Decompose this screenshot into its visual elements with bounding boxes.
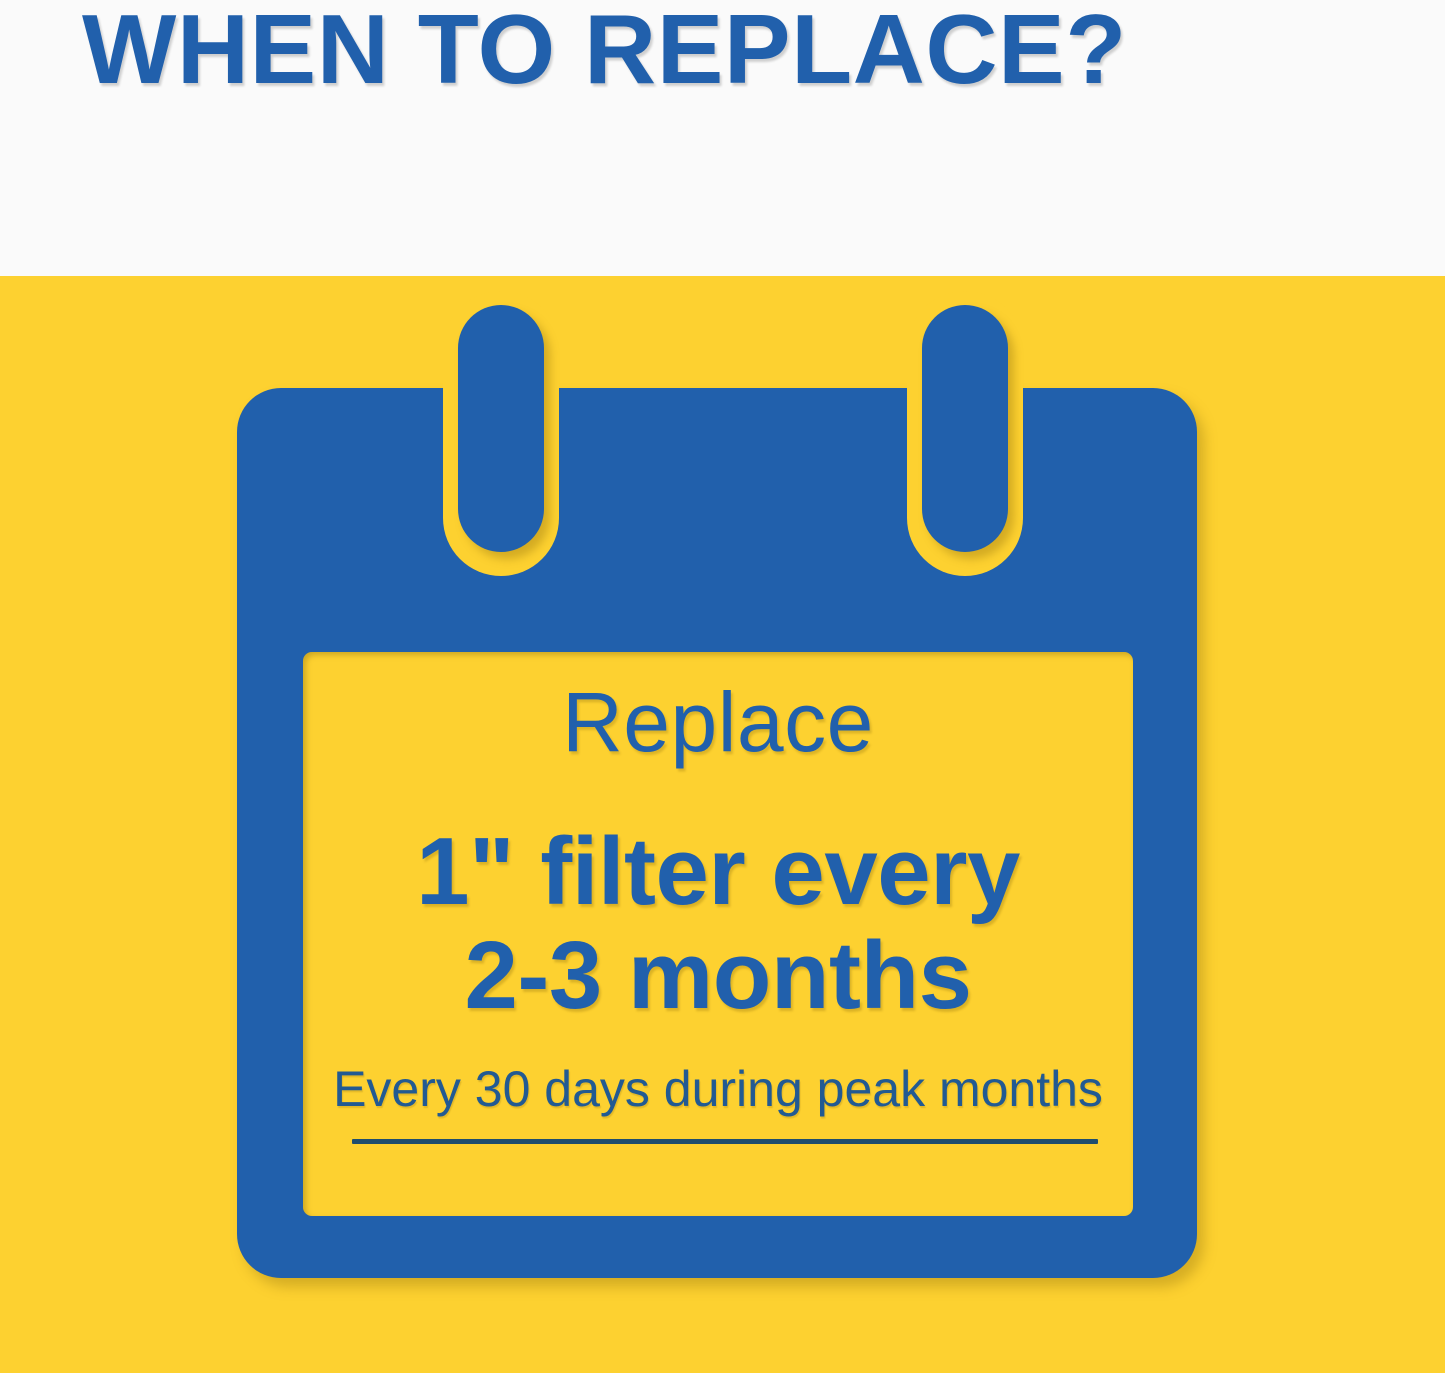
calendar-page: Replace 1" filter every 2-3 months Every… (303, 652, 1133, 1216)
illustration-stage: Replace 1" filter every 2-3 months Every… (0, 276, 1445, 1373)
header-band: WHEN TO REPLACE? (0, 0, 1445, 276)
peak-months-note: Every 30 days during peak months (333, 1060, 1103, 1118)
infographic-poster: WHEN TO REPLACE? Replace 1" filter every… (0, 0, 1445, 1373)
replace-eyebrow: Replace (303, 674, 1133, 770)
calendar-page-content: Replace 1" filter every 2-3 months Every… (303, 652, 1133, 1216)
replace-interval-line-2: 2-3 months (303, 924, 1133, 1028)
note-underline-rule (352, 1139, 1098, 1144)
binder-ring-left-icon (458, 305, 544, 552)
replace-interval-line-1: 1" filter every (303, 820, 1133, 924)
page-title: WHEN TO REPLACE? (82, 0, 1204, 104)
binder-ring-right-icon (922, 305, 1008, 552)
